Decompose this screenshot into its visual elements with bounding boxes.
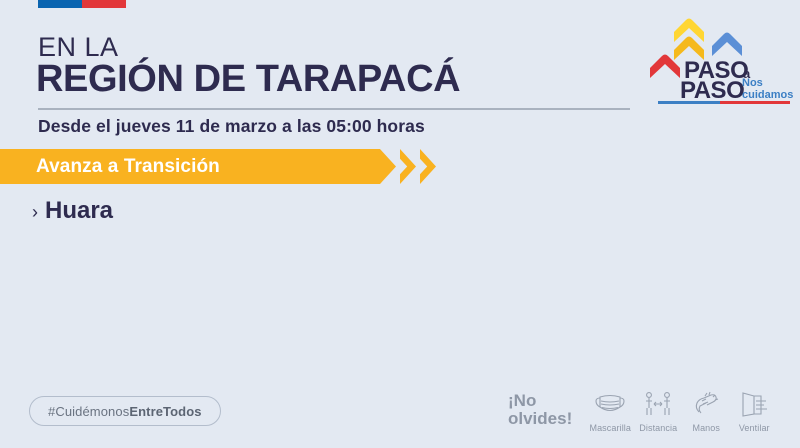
caret-right-icon: › — [32, 201, 38, 224]
comuna-name: Huara — [45, 196, 113, 226]
poster-canvas: EN LA REGIÓN DE TARAPACÁ Desde el jueves… — [0, 0, 800, 448]
status-badge: Avanza a Transición — [36, 157, 220, 176]
no-olvides-line2: olvides! — [508, 410, 572, 428]
flag-red-segment — [82, 0, 126, 8]
reminder-mascarilla: Mascarilla — [586, 388, 634, 433]
comuna-list: › Huara — [32, 196, 113, 226]
reminders-group: ¡No olvides! Mascarilla — [508, 388, 778, 433]
effective-date-text: Desde el jueves 11 de marzo a las 05:00 … — [38, 118, 425, 136]
no-olvides-label: ¡No olvides! — [508, 392, 572, 428]
hashtag-pill: #CuidémonosEntreTodos — [29, 396, 221, 426]
paso-a-paso-logo: PASO a PASO Nos cuidamos — [648, 6, 794, 106]
band-arrow-tip — [380, 149, 396, 184]
kicker-text: EN LA — [38, 34, 119, 61]
mask-icon — [593, 388, 627, 420]
logo-underline-red — [720, 101, 790, 104]
hashtag-bold: EntreTodos — [129, 404, 201, 419]
hands-wash-icon — [689, 388, 723, 420]
status-band: Avanza a Transición — [0, 149, 436, 184]
ventilate-icon — [737, 388, 771, 420]
reminder-label: Distancia — [639, 423, 677, 433]
list-item: › Huara — [32, 196, 113, 226]
hashtag-prefix: #Cuidémonos — [48, 404, 129, 419]
status-band-body: Avanza a Transición — [0, 149, 380, 184]
reminder-distancia: Distancia — [634, 388, 682, 433]
svg-text:PASO: PASO — [680, 77, 744, 104]
no-olvides-line1: ¡No — [508, 392, 572, 410]
reminder-ventilar: Ventilar — [730, 388, 778, 433]
svg-text:cuidamos: cuidamos — [742, 89, 793, 101]
chevron-blue-icon — [712, 33, 742, 57]
reminder-manos: Manos — [682, 388, 730, 433]
logo-underline-blue — [658, 101, 720, 104]
reminder-label: Mascarilla — [589, 423, 631, 433]
reminder-label: Manos — [692, 423, 720, 433]
flag-blue-segment — [38, 0, 82, 8]
reminder-label: Ventilar — [739, 423, 770, 433]
page-title: REGIÓN DE TARAPACÁ — [36, 60, 460, 98]
chevron-right-icon — [420, 149, 436, 184]
chevron-right-icon — [400, 149, 416, 184]
chile-flag-bar — [38, 0, 126, 8]
distance-icon — [641, 388, 675, 420]
svg-text:Nos: Nos — [742, 77, 763, 89]
header-divider — [38, 108, 630, 110]
